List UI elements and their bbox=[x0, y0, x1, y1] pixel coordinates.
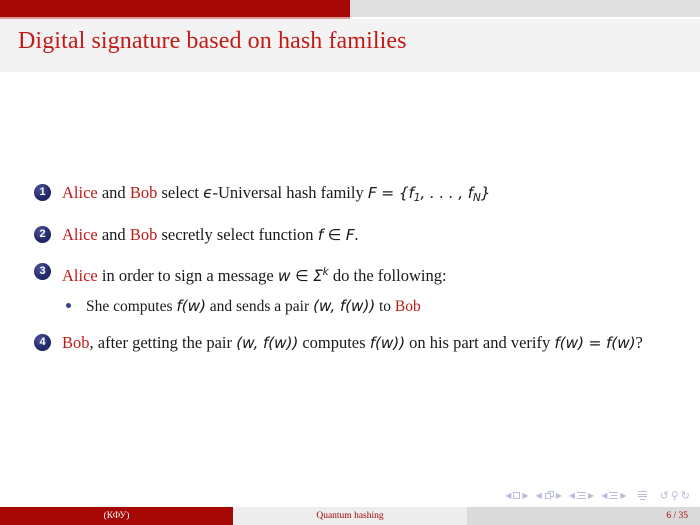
text-run: secretly select function bbox=[157, 225, 317, 244]
back-icon[interactable]: ↺ bbox=[660, 489, 669, 502]
frame-prev-icon[interactable]: ◀ bbox=[536, 492, 542, 500]
text-run: , after getting the pair bbox=[90, 333, 237, 352]
sub-item-text: She computes f(w) and sends a pair (w, f… bbox=[86, 298, 421, 315]
headline-bar-gray bbox=[350, 0, 700, 17]
frame-nav-group[interactable]: ◀ ▶ bbox=[536, 491, 562, 500]
frame-icon[interactable] bbox=[544, 491, 554, 500]
text-run: on his part and verify bbox=[405, 333, 554, 352]
text-run: She computes bbox=[86, 298, 176, 315]
headline-bar bbox=[0, 0, 700, 17]
slide-nav-group[interactable]: ◀ ▶ bbox=[505, 492, 528, 500]
text-run: Alice bbox=[62, 183, 98, 202]
section-prev-icon[interactable]: ◀ bbox=[601, 492, 607, 500]
bullet-dot-icon bbox=[66, 303, 71, 308]
page-title: Digital signature based on hash families bbox=[18, 28, 407, 55]
text-run: f(w)) bbox=[370, 334, 405, 352]
text-run: f ∈ F bbox=[318, 226, 355, 244]
sub-itemize-list: She computes f(w) and sends a pair (w, f… bbox=[62, 294, 700, 319]
footer-title: Quantum hashing bbox=[233, 507, 467, 525]
enumerate-item: 1Alice and Bob select ϵ-Universal hash f… bbox=[0, 180, 700, 211]
enumerate-number-badge: 1 bbox=[34, 184, 51, 201]
text-run: f(w) = f(w) bbox=[554, 334, 635, 352]
subsection-nav-group[interactable]: ◀ ▶ bbox=[569, 492, 594, 500]
text-run: (w, f(w)) bbox=[313, 297, 375, 315]
text-run: Bob bbox=[395, 298, 421, 315]
enumerate-number-badge: 2 bbox=[34, 226, 51, 243]
text-run: and bbox=[98, 225, 130, 244]
text-run: w ∈ Σ bbox=[278, 267, 323, 285]
text-run: . bbox=[354, 225, 358, 244]
text-run: Bob bbox=[130, 225, 158, 244]
enumerate-list: 1Alice and Bob select ϵ-Universal hash f… bbox=[0, 180, 700, 356]
text-run: Alice bbox=[62, 225, 98, 244]
text-run: f(w) bbox=[176, 297, 205, 315]
text-run: computes bbox=[298, 333, 370, 352]
enumerate-item-text: Alice in order to sign a message w ∈ Σk … bbox=[62, 266, 447, 285]
slide-body: 1Alice and Bob select ϵ-Universal hash f… bbox=[0, 180, 700, 367]
headline-bar-accent bbox=[0, 0, 350, 17]
text-run: select bbox=[157, 183, 203, 202]
enumerate-item-text: Alice and Bob secretly select function f… bbox=[62, 225, 359, 244]
text-run: Alice bbox=[62, 266, 98, 285]
slide-icon[interactable] bbox=[513, 492, 520, 499]
text-run: } bbox=[481, 184, 491, 202]
text-run: ? bbox=[635, 333, 642, 352]
text-run: do the following: bbox=[329, 266, 447, 285]
history-nav-group[interactable]: ↺ ⚲ ↻ bbox=[660, 489, 691, 502]
enumerate-item-text: Alice and Bob select ϵ-Universal hash fa… bbox=[62, 183, 490, 202]
frame-next-icon[interactable]: ▶ bbox=[556, 492, 562, 500]
enumerate-item: 4Bob, after getting the pair (w, f(w)) c… bbox=[0, 330, 700, 356]
enumerate-item: 3Alice in order to sign a message w ∈ Σk… bbox=[0, 259, 700, 319]
beamer-navigation-symbols[interactable]: ◀ ▶ ◀ ▶ ◀ ▶ ◀ ▶ ↺ ⚲ ↻ bbox=[505, 489, 690, 502]
subsection-icon[interactable] bbox=[577, 492, 586, 499]
enumerate-item: 2Alice and Bob secretly select function … bbox=[0, 222, 700, 248]
subsection-next-icon[interactable]: ▶ bbox=[588, 492, 594, 500]
footer-author: (КФУ) bbox=[0, 507, 233, 525]
document-icon[interactable] bbox=[638, 491, 647, 500]
text-run: and sends a pair bbox=[206, 298, 313, 315]
text-run: Bob bbox=[130, 183, 158, 202]
slide-next-icon[interactable]: ▶ bbox=[522, 492, 528, 500]
section-next-icon[interactable]: ▶ bbox=[620, 492, 626, 500]
text-run: Bob bbox=[62, 333, 90, 352]
text-run: N bbox=[473, 192, 481, 204]
enumerate-number-badge: 4 bbox=[34, 334, 51, 351]
text-run: to bbox=[375, 298, 395, 315]
text-run: in order to sign a message bbox=[98, 266, 278, 285]
section-nav-group[interactable]: ◀ ▶ bbox=[601, 492, 626, 500]
footline: (КФУ) Quantum hashing 6 / 35 bbox=[0, 507, 700, 525]
text-run: and bbox=[98, 183, 130, 202]
sub-item: She computes f(w) and sends a pair (w, f… bbox=[62, 294, 700, 319]
section-icon[interactable] bbox=[609, 492, 618, 499]
enumerate-number-badge: 3 bbox=[34, 263, 51, 280]
forward-icon[interactable]: ↻ bbox=[681, 489, 690, 502]
text-run: (w, f(w)) bbox=[236, 334, 298, 352]
text-run: F = {f bbox=[368, 184, 414, 202]
enumerate-item-text: Bob, after getting the pair (w, f(w)) co… bbox=[62, 333, 643, 352]
text-run: , . . . , f bbox=[420, 184, 473, 202]
text-run: -Universal hash family bbox=[212, 183, 367, 202]
footer-page-number: 6 / 35 bbox=[467, 507, 700, 525]
search-icon[interactable]: ⚲ bbox=[671, 489, 679, 502]
slide-prev-icon[interactable]: ◀ bbox=[505, 492, 511, 500]
subsection-prev-icon[interactable]: ◀ bbox=[569, 492, 575, 500]
